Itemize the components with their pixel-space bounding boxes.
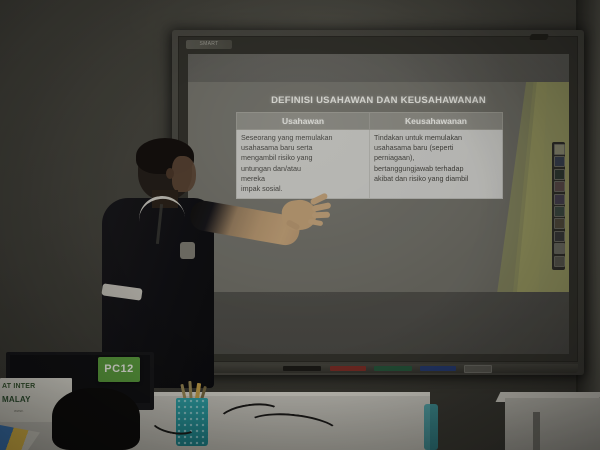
usahawan-line-5: mereka: [241, 174, 365, 184]
keusahawanan-line-5: akibat dan risiko yang diambil: [374, 174, 498, 184]
column-header-keusahawanan: Keusahawanan: [370, 113, 503, 130]
side-table: [505, 398, 600, 450]
tool-highlighter-icon[interactable]: [554, 169, 565, 180]
tool-undo-icon[interactable]: [554, 231, 565, 242]
water-bottle: [424, 404, 438, 450]
definition-table: Usahawan Keusahawanan Seseorang yang mem…: [236, 112, 503, 199]
keusahawanan-line-3: perniagaan),: [374, 153, 498, 163]
classroom-scene: SMART DEFINISI USAHAWAN DAN KEUSAHAWANAN…: [0, 0, 600, 450]
tool-select-icon[interactable]: [554, 144, 565, 155]
presenter-ear: [166, 168, 174, 179]
cell-keusahawanan-definition: Tindakan untuk memulakan usahasama baru …: [370, 130, 503, 199]
keusahawanan-line-2: usahasama baru (seperti: [374, 143, 498, 153]
tool-eraser-icon[interactable]: [554, 181, 565, 192]
tool-text-icon[interactable]: [554, 218, 565, 229]
tool-shapes-icon[interactable]: [554, 194, 565, 205]
usahawan-line-4: untungan dan/atau: [241, 164, 365, 174]
keusahawanan-line-4: bertanggungjawab terhadap: [374, 164, 498, 174]
eraser-icon[interactable]: [464, 365, 492, 373]
cell-usahawan-definition: Seseorang yang memulakan usahasama baru …: [237, 130, 370, 199]
pc-number-label: PC12: [98, 357, 140, 382]
tool-keyboard-icon[interactable]: [554, 243, 565, 254]
black-marker-icon[interactable]: [283, 366, 321, 371]
red-marker-icon[interactable]: [330, 366, 366, 371]
audience-member-head: [52, 388, 140, 450]
sign-line-1: AT INTER: [2, 383, 35, 390]
keusahawanan-line-1: Tindakan untuk memulakan: [374, 133, 498, 143]
presenter-finger-3: [312, 212, 330, 219]
presenter: [86, 138, 256, 388]
pc-number-tag: PC12: [98, 357, 140, 382]
tool-pen-icon[interactable]: [554, 156, 565, 167]
usahawan-line-2: usahasama baru serta: [241, 143, 365, 153]
usahawan-line-6: impak sosial.: [241, 184, 365, 194]
table-row: Seseorang yang memulakan usahasama baru …: [237, 130, 503, 199]
usahawan-line-3: mengambil risiko yang: [241, 153, 365, 163]
side-table-leg: [533, 412, 540, 450]
slide-title: DEFINISI USAHAWAN DAN KEUSAHAWANAN: [188, 95, 569, 106]
sign-line-3: www.: [14, 408, 24, 413]
usahawan-line-1: Seseorang yang memulakan: [241, 133, 365, 143]
column-header-usahawan: Usahawan: [237, 113, 370, 130]
whiteboard-brand-logo: SMART: [186, 40, 232, 49]
whiteboard-top-clip: [529, 34, 549, 40]
green-marker-icon[interactable]: [374, 366, 412, 371]
presenter-face: [172, 156, 196, 192]
whiteboard-side-toolbar[interactable]: [552, 142, 565, 270]
sign-line-2: MALAY: [2, 395, 31, 404]
blue-marker-icon[interactable]: [420, 366, 456, 371]
presenter-chest-emblem: [180, 242, 195, 259]
table-header-row: Usahawan Keusahawanan: [237, 113, 503, 130]
tool-line-icon[interactable]: [554, 206, 565, 217]
tool-settings-icon[interactable]: [554, 256, 565, 267]
